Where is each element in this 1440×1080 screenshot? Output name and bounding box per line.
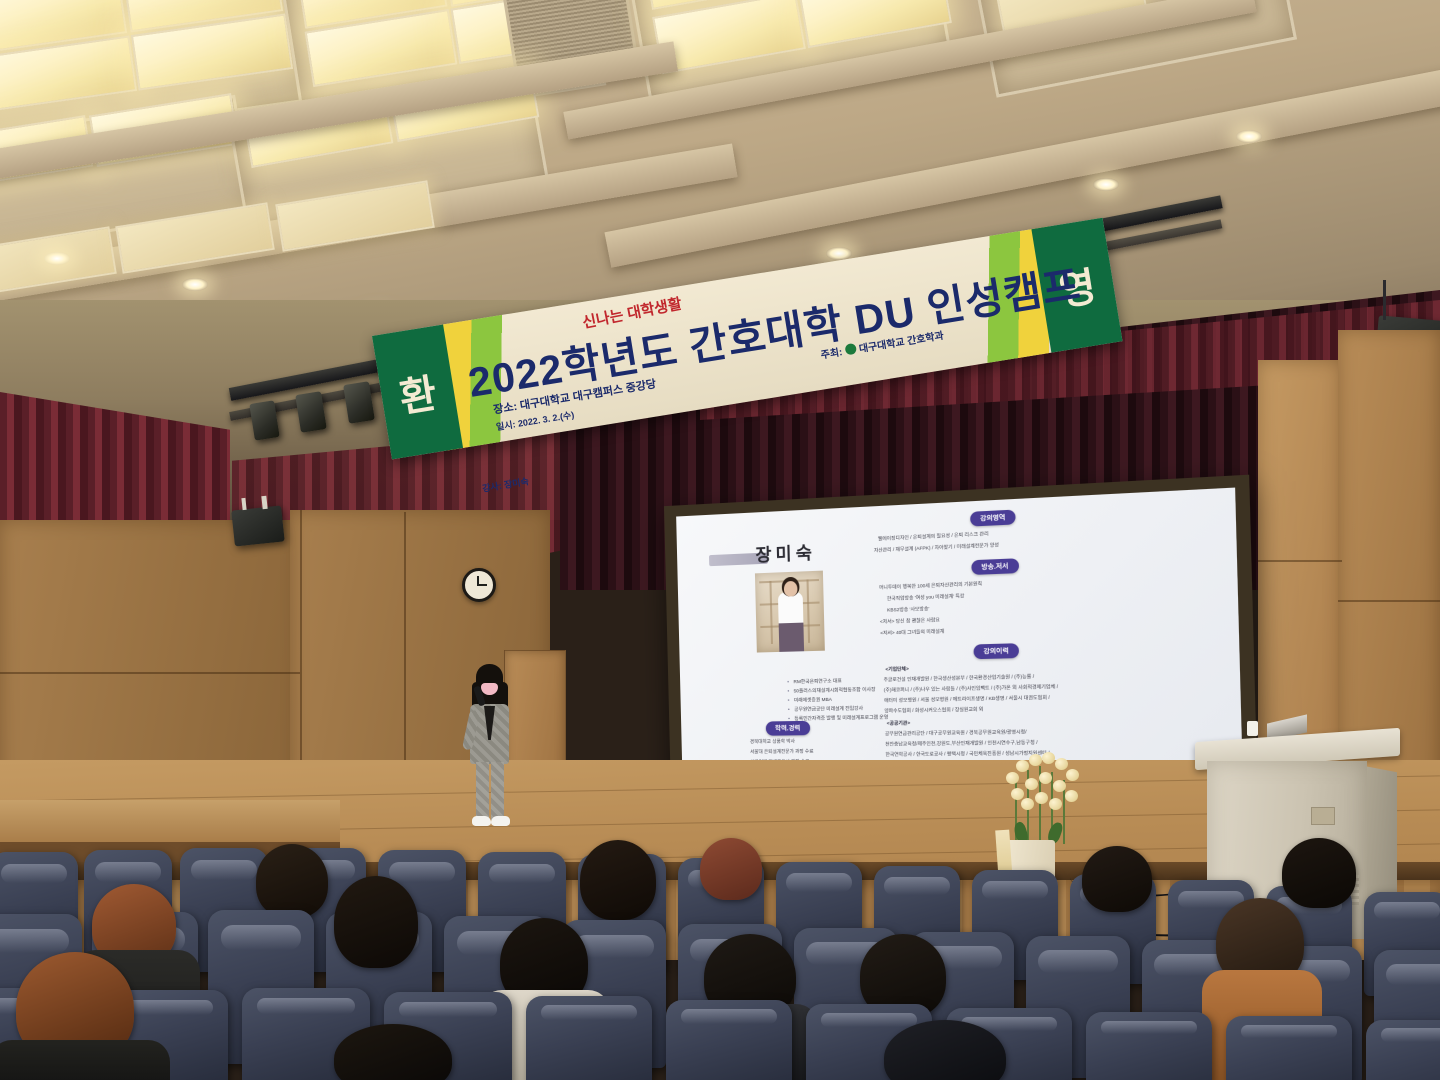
corporate-line: 양파수도협회 / 화성시커오스협회 / 장실원교회 외 [884, 705, 983, 716]
section-tag-media-books: 방송.저서 [971, 558, 1018, 574]
subhead-public: <공공기관> [887, 719, 911, 728]
section-tag-lecture-history: 강의이력 [973, 643, 1018, 659]
audience-head [580, 840, 656, 920]
recessed-downlight-icon [1236, 130, 1262, 143]
banner-host-label: 주최: [819, 343, 843, 361]
slide-speaker-name: 장미숙 [755, 538, 816, 566]
presenter-speaker [462, 664, 518, 834]
wall-clock [462, 568, 496, 602]
audience-head [334, 876, 418, 968]
university-logo-icon [844, 343, 857, 356]
seat[interactable] [1366, 1020, 1440, 1080]
audience-shoulders [0, 1040, 170, 1080]
seat[interactable] [666, 1000, 792, 1080]
section-tag-education: 학력.경력 [766, 721, 810, 736]
cup-icon [1247, 721, 1258, 736]
public-line: 공무원연금관리공단 / 대구공무원교육원 / 경북공무원교육원/광명시청/ [885, 728, 1027, 739]
media-line: 머니투데이 행복한 100세 은퇴자산관리의 기본원칙 [879, 580, 982, 593]
media-line: <저서> 40대 그녀들의 미래설계 [880, 627, 944, 638]
recessed-downlight-icon [182, 278, 208, 291]
seat[interactable] [526, 996, 652, 1080]
media-line: <저서> 당신 참 괜찮은 사람요 [880, 616, 940, 627]
seat[interactable] [1086, 1012, 1212, 1080]
public-line: 천안충남교육청/제주인천,강원도,부산인재개발원 / 인천시연수구,남동구청 / [885, 739, 1038, 750]
audience-seating [0, 838, 1440, 1080]
banner-end-char-left: 환 [395, 360, 441, 423]
seat[interactable] [1226, 1016, 1352, 1080]
recessed-downlight-icon [44, 252, 70, 265]
subhead-corporate: <기업단체> [885, 665, 909, 675]
audience-head [256, 844, 328, 918]
speaker-portrait [755, 571, 825, 653]
recessed-downlight-icon [1093, 178, 1119, 191]
corporate-line: 애터미 성모병원 / 서울 성모병원 / 메트라이프생명 / KB생명 / 서울… [884, 694, 1050, 706]
audience-head [700, 838, 762, 900]
media-line: KBS2방송 '사모방송' [887, 605, 929, 616]
podium-nameplate [1311, 807, 1335, 825]
auditorium-photo: 환 영 신나는 대학생활 2022학년도 간호대학 DU 인성캠프 장소: 대구… [0, 0, 1440, 1080]
audience-head [1082, 846, 1152, 912]
section-tag-lecture-areas: 강의영역 [970, 510, 1015, 527]
media-line: 한국직업방송 '여성 you 미래설계' 특강 [887, 592, 965, 604]
audience-head [1282, 838, 1356, 908]
education-line: 서울대 은퇴설계전문가 과정 수료 [750, 747, 814, 757]
wall-loudspeaker-left [231, 505, 284, 546]
education-line: 경북대학교 상품학 박사 [750, 737, 795, 746]
